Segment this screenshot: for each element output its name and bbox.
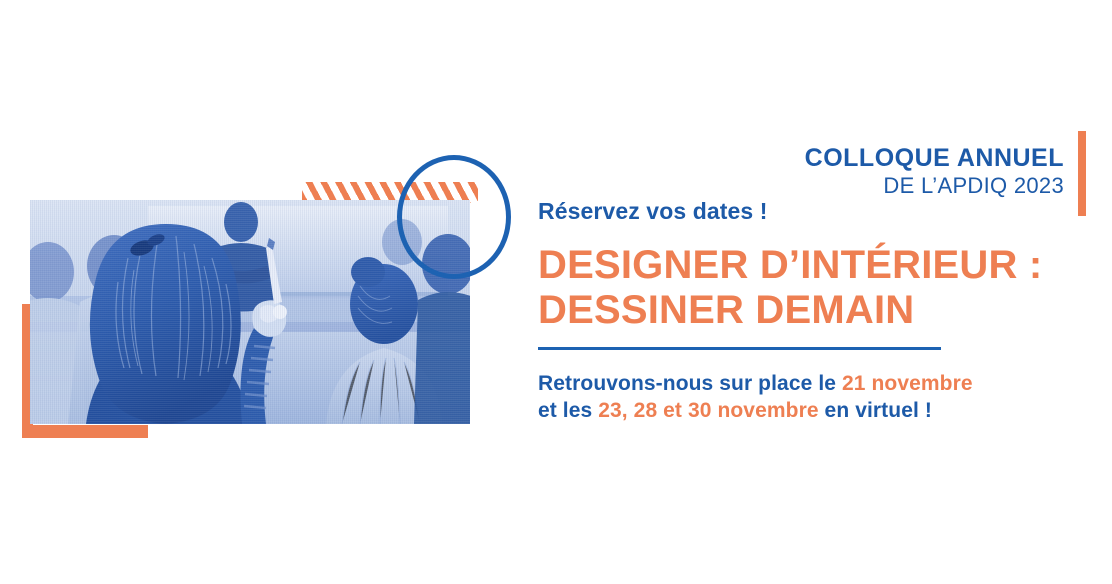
event-headline: DESIGNER D’INTÉRIEUR : DESSINER DEMAIN (538, 243, 1042, 333)
headline-divider (538, 347, 941, 350)
dates-line-2-suffix: en virtuel ! (819, 399, 932, 422)
vertical-rule-decoration (1078, 131, 1086, 216)
dates-line-2: et les 23, 28 et 30 novembre en virtuel … (538, 397, 973, 424)
dates-line-1-highlight: 21 novembre (842, 372, 973, 395)
circle-outline-decoration (397, 155, 511, 279)
eyebrow-line-2: DE L’APDIQ 2023 (805, 174, 1064, 199)
save-the-date-kicker: Réservez vos dates ! (538, 198, 768, 225)
headline-line-1: DESIGNER D’INTÉRIEUR : (538, 243, 1042, 288)
banner-root: COLLOQUE ANNUEL DE L’APDIQ 2023 Réservez… (0, 0, 1112, 584)
dates-line-2-text: et les (538, 399, 598, 422)
event-dates: Retrouvons-nous sur place le 21 novembre… (538, 370, 973, 425)
eyebrow-line-1: COLLOQUE ANNUEL (805, 144, 1064, 172)
headline-line-2: DESSINER DEMAIN (538, 288, 1042, 333)
event-eyebrow: COLLOQUE ANNUEL DE L’APDIQ 2023 (805, 144, 1064, 199)
dates-line-1-text: Retrouvons-nous sur place le (538, 372, 842, 395)
dates-line-1: Retrouvons-nous sur place le 21 novembre (538, 370, 973, 397)
dates-line-2-highlight: 23, 28 et 30 novembre (598, 399, 818, 422)
